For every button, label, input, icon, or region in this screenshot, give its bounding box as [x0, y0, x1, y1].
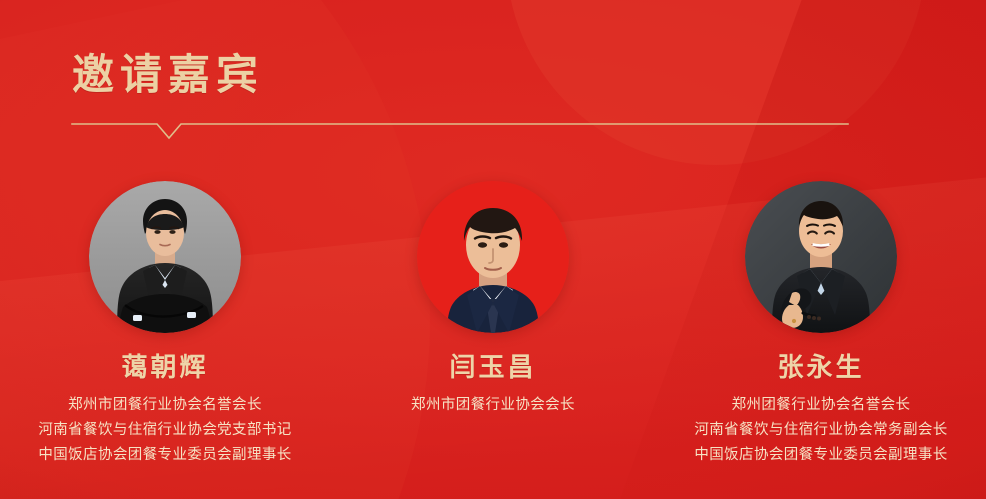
guest-card[interactable]: 张永生 郑州团餐行业协会名誉会长 河南省餐饮与住宿行业协会常务副会长 中国饭店协…: [657, 181, 985, 466]
avatar: [417, 181, 569, 333]
guest-titles: 郑州市团餐行业协会名誉会长 河南省餐饮与住宿行业协会党支部书记 中国饭店协会团餐…: [38, 394, 291, 466]
avatar: [89, 181, 241, 333]
guest-name: 张永生: [777, 353, 864, 382]
page-title: 邀请嘉宾: [72, 52, 872, 97]
invited-guests-slide: 邀请嘉宾: [0, 0, 986, 499]
guest-title-line: 河南省餐饮与住宿行业协会常务副会长: [694, 419, 947, 441]
guest-list: 蔼朝辉 郑州市团餐行业协会名誉会长 河南省餐饮与住宿行业协会党支部书记 中国饭店…: [0, 181, 986, 466]
guest-title-line: 中国饭店协会团餐专业委员会副理事长: [694, 444, 947, 466]
header: 邀请嘉宾: [72, 52, 872, 97]
guest-card[interactable]: 蔼朝辉 郑州市团餐行业协会名誉会长 河南省餐饮与住宿行业协会党支部书记 中国饭店…: [1, 181, 329, 466]
guest-title-line: 郑州市团餐行业协会会长: [411, 394, 575, 416]
guest-name: 闫玉昌: [449, 353, 536, 382]
guest-title-line: 河南省餐饮与住宿行业协会党支部书记: [38, 419, 291, 441]
guest-titles: 郑州市团餐行业协会会长: [411, 394, 575, 416]
guest-name: 蔼朝辉: [121, 353, 208, 382]
gold-divider-with-notch: [72, 120, 848, 142]
guest-title-line: 中国饭店协会团餐专业委员会副理事长: [38, 444, 291, 466]
avatar: [745, 181, 897, 333]
guest-titles: 郑州团餐行业协会名誉会长 河南省餐饮与住宿行业协会常务副会长 中国饭店协会团餐专…: [694, 394, 947, 466]
guest-title-line: 郑州团餐行业协会名誉会长: [694, 394, 947, 416]
guest-title-line: 郑州市团餐行业协会名誉会长: [38, 394, 291, 416]
guest-card[interactable]: 闫玉昌 郑州市团餐行业协会会长: [329, 181, 657, 416]
